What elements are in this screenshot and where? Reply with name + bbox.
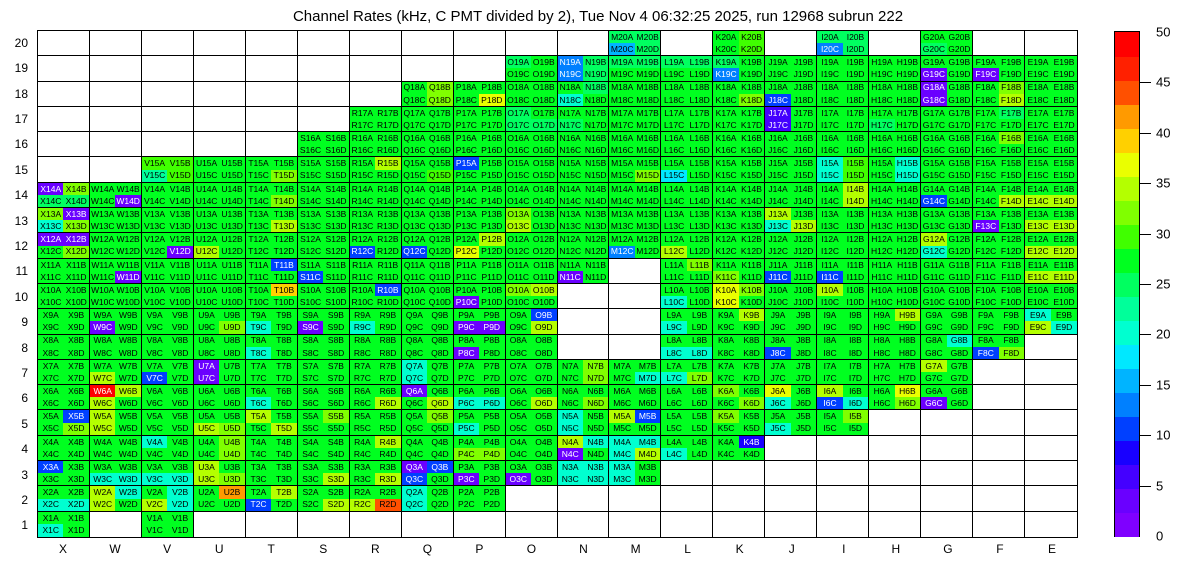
grid-cell: J7AJ7BJ7CJ7D [765, 360, 817, 385]
grid-cell: N13AN13BN13CN13D [558, 208, 610, 233]
grid-cell [298, 512, 350, 537]
channel-cell [895, 423, 920, 435]
channel-cell: R16D [375, 144, 400, 156]
channel-cell: H16A [869, 132, 894, 144]
channel-cell [115, 524, 140, 537]
channel-cell: M5D [635, 423, 660, 435]
channel-cell: G8B [947, 335, 972, 347]
channel-cell: Q17A [402, 107, 427, 119]
channel-cell: L5D [687, 423, 712, 435]
grid-cell: S6AS6BS6CS6D [298, 385, 350, 410]
channel-cell: L13C [661, 220, 686, 232]
grid-cell [246, 56, 298, 81]
channel-cell [90, 119, 115, 131]
channel-cell: R7D [375, 372, 400, 384]
channel-cell: F8D [999, 347, 1024, 359]
channel-cell [246, 82, 271, 94]
channel-cell: O5B [531, 410, 556, 422]
channel-cell [558, 296, 583, 308]
channel-cell [609, 284, 634, 296]
channel-cell [115, 107, 140, 119]
channel-cell: J6C [765, 397, 790, 409]
channel-cell [375, 94, 400, 106]
channel-cell [479, 524, 504, 537]
channel-cell [583, 347, 608, 359]
grid-cell [713, 461, 765, 486]
channel-cell: Q4A [402, 436, 427, 448]
grid-cell: V2AV2BV2CV2D [142, 486, 194, 511]
channel-cell [402, 56, 427, 68]
channel-cell: G18B [947, 82, 972, 94]
channel-cell: X9D [63, 321, 88, 333]
channel-cell [142, 132, 167, 144]
channel-cell: W3B [115, 461, 140, 473]
colorbar-tick-label-40: 40 [1156, 125, 1170, 140]
grid-cell: Q15AQ15BQ15CQ15D [402, 157, 454, 182]
grid-cell: X4AX4BX4CX4D [38, 436, 90, 461]
channel-cell: P5C [454, 423, 479, 435]
channel-cell [921, 423, 946, 435]
channel-cell: S16B [323, 132, 348, 144]
channel-cell: R3D [375, 473, 400, 485]
channel-cell [63, 107, 88, 119]
channel-cell: P8D [479, 347, 504, 359]
row-label-12: 12 [15, 239, 28, 253]
channel-cell: S7B [323, 360, 348, 372]
channel-cell: P4B [479, 436, 504, 448]
channel-cell: J12D [791, 246, 816, 258]
channel-cell: E15D [1051, 170, 1077, 182]
channel-cell: H8C [869, 347, 894, 359]
channel-cell: P13C [454, 220, 479, 232]
grid-cell: I19AI19BI19CI19D [817, 56, 869, 81]
channel-cell [687, 473, 712, 485]
channel-cell: O18C [506, 94, 531, 106]
channel-cell: G19D [947, 68, 972, 80]
channel-cell: M14C [609, 195, 634, 207]
channel-cell [142, 107, 167, 119]
channel-cell: U6C [194, 397, 219, 409]
channel-cell: G15D [947, 170, 972, 182]
channel-cell: F9D [999, 321, 1024, 333]
channel-cell: G19C [921, 68, 946, 80]
channel-cell: J18A [765, 82, 790, 94]
column-label-X: X [59, 542, 67, 556]
channel-cell: V1A [142, 512, 167, 525]
channel-cell: K12B [739, 233, 764, 245]
channel-cell [1051, 486, 1077, 498]
channel-cell: T6C [246, 397, 271, 409]
channel-cell: M5C [609, 423, 634, 435]
channel-cell [531, 31, 556, 43]
channel-cell: U8C [194, 347, 219, 359]
channel-cell [973, 360, 998, 372]
channel-cell: K13C [713, 220, 738, 232]
channel-cell: J7B [791, 360, 816, 372]
channel-cell [973, 423, 998, 435]
channel-cell: R12C [350, 246, 375, 258]
channel-cell: N3A [558, 461, 583, 473]
grid-cell: O10AO10BO10CO10D [506, 284, 558, 309]
channel-cell: K14B [739, 183, 764, 195]
channel-cell: M4C [609, 448, 634, 460]
grid-cell: S15AS15BS15CS15D [298, 157, 350, 182]
channel-cell: Q3B [427, 461, 452, 473]
grid-cell: Q7AQ7BQ7CQ7D [402, 360, 454, 385]
channel-cell [1051, 499, 1077, 511]
channel-cell: I13D [843, 220, 868, 232]
channel-cell: Q13A [402, 208, 427, 220]
channel-cell: N12D [583, 246, 608, 258]
channel-cell [402, 68, 427, 80]
grid-cell: F9AF9BF9CF9D [973, 309, 1025, 334]
channel-cell: E18D [1051, 94, 1077, 106]
channel-cell: H10A [869, 284, 894, 296]
channel-cell: O9B [531, 309, 556, 321]
channel-cell: Q8C [402, 347, 427, 359]
channel-cell: E14B [1051, 183, 1077, 195]
channel-cell: T10A [246, 284, 271, 296]
channel-cell [817, 473, 842, 485]
channel-cell: L9D [687, 321, 712, 333]
grid-cell: K12AK12BK12CK12D [713, 233, 765, 258]
channel-cell: E10C [1025, 296, 1051, 308]
grid-cell: O16AO16BO16CO16D [506, 132, 558, 157]
colorbar-tick-label-5: 5 [1156, 478, 1163, 493]
channel-cell: V6A [142, 385, 167, 397]
channel-cell: Q18D [427, 94, 452, 106]
grid-cell: Q18AQ18BQ18CQ18D [402, 82, 454, 107]
channel-cell: M4A [609, 436, 634, 448]
channel-cell: T15C [246, 170, 271, 182]
channel-cell: E19B [1051, 56, 1077, 68]
channel-cell: I12D [843, 246, 868, 258]
channel-cell: T7A [246, 360, 271, 372]
channel-cell: R13C [350, 220, 375, 232]
channel-cell: W6D [115, 397, 140, 409]
channel-cell: X4D [63, 448, 88, 460]
channel-cell: J19B [791, 56, 816, 68]
channel-cell: L12A [661, 233, 686, 245]
channel-cell: J12A [765, 233, 790, 245]
grid-cell: M13AM13BM13CM13D [609, 208, 661, 233]
channel-cell [999, 397, 1024, 409]
channel-cell [739, 499, 764, 511]
channel-cell: V3C [142, 473, 167, 485]
grid-cell [921, 512, 973, 537]
channel-cell: L4A [661, 436, 686, 448]
channel-cell [219, 68, 244, 80]
channel-cell: S11A [298, 259, 323, 271]
grid-cell [506, 486, 558, 511]
channel-cell: T12A [246, 233, 271, 245]
channel-cell [427, 524, 452, 537]
grid-cell: L18AL18BL18CL18D [661, 82, 713, 107]
channel-cell: W4D [115, 448, 140, 460]
channel-cell [661, 512, 686, 525]
grid-cell [765, 436, 817, 461]
grid-cell: T14AT14BT14CT14D [246, 183, 298, 208]
grid-cell: M7AM7BM7CM7D [609, 360, 661, 385]
channel-cell: E11C [1025, 271, 1051, 283]
channel-cell: X10A [38, 284, 63, 296]
channel-cell [167, 132, 192, 144]
channel-cell: X9C [38, 321, 63, 333]
grid-cell: L7AL7BL7CL7D [661, 360, 713, 385]
channel-cell: L7D [687, 372, 712, 384]
channel-cell: E16B [1051, 132, 1077, 144]
channel-cell: W8D [115, 347, 140, 359]
colorbar-tick [1140, 486, 1151, 487]
channel-cell: O19A [506, 56, 531, 68]
channel-cell [1051, 347, 1077, 359]
channel-cell: J13A [765, 208, 790, 220]
grid-cell: I8AI8BI8CI8D [817, 335, 869, 360]
row-label-4: 4 [21, 442, 28, 456]
grid-cell [194, 31, 246, 56]
channel-cell: J10C [765, 296, 790, 308]
grid-cell: U5AU5BU5CU5D [194, 410, 246, 435]
channel-cell: K15D [739, 170, 764, 182]
grid-cell: F12AF12BF12CF12D [973, 233, 1025, 258]
channel-cell: E13C [1025, 220, 1051, 232]
grid-cell [973, 410, 1025, 435]
channel-cell: H13C [869, 220, 894, 232]
channel-cell: O10A [506, 284, 531, 296]
channel-cell [947, 473, 972, 485]
grid-cell: M5AM5BM5CM5D [609, 410, 661, 435]
channel-cell: V7A [142, 360, 167, 372]
column-label-V: V [163, 542, 171, 556]
grid-cell: M19AM19BM19CM19D [609, 56, 661, 81]
grid-cell: G10AG10BG10CG10D [921, 284, 973, 309]
grid-cell: Q12AQ12BQ12CQ12D [402, 233, 454, 258]
channel-cell: H10B [895, 284, 920, 296]
channel-cell: X4B [63, 436, 88, 448]
channel-cell: X13C [38, 220, 63, 232]
channel-cell [661, 499, 686, 511]
channel-cell: T15A [246, 157, 271, 169]
channel-cell: I19A [817, 56, 842, 68]
row-label-3: 3 [21, 468, 28, 482]
channel-cell: O8A [506, 335, 531, 347]
channel-cell [1051, 423, 1077, 435]
channel-cell: U7B [219, 360, 244, 372]
channel-cell: M3C [609, 473, 634, 485]
channel-cell [1051, 360, 1077, 372]
channel-cell: W11C [90, 271, 115, 283]
channel-cell [791, 31, 816, 43]
channel-cell [63, 94, 88, 106]
channel-cell: T14B [271, 183, 296, 195]
channel-cell [609, 296, 634, 308]
grid-cell: Q8AQ8BQ8CQ8D [402, 335, 454, 360]
channel-cell [609, 524, 634, 537]
grid-cell [298, 107, 350, 132]
grid-cell [38, 31, 90, 56]
channel-cell: M4B [635, 436, 660, 448]
channel-cell: M19D [635, 68, 660, 80]
channel-cell: K12D [739, 246, 764, 258]
channel-cell [609, 335, 634, 347]
grid-cell: F18AF18BF18CF18D [973, 82, 1025, 107]
channel-cell: O13B [531, 208, 556, 220]
channel-cell [142, 94, 167, 106]
channel-cell: U2D [219, 499, 244, 511]
grid-cell: I18AI18BI18CI18D [817, 82, 869, 107]
channel-cell: I20B [843, 31, 868, 43]
channel-cell: J11A [765, 259, 790, 271]
channel-cell: U12C [194, 246, 219, 258]
grid-cell [973, 461, 1025, 486]
channel-cell [506, 524, 531, 537]
channel-cell: U9B [219, 309, 244, 321]
channel-cell [791, 448, 816, 460]
grid-cell: M6AM6BM6CM6D [609, 385, 661, 410]
channel-cell: W8A [90, 335, 115, 347]
grid-cell [973, 486, 1025, 511]
channel-cell: L19C [661, 68, 686, 80]
channel-cell [246, 94, 271, 106]
channel-cell [869, 31, 894, 43]
channel-cell: L15D [687, 170, 712, 182]
channel-cell: L15C [661, 170, 686, 182]
channel-cell: H16B [895, 132, 920, 144]
channel-cell [895, 461, 920, 473]
grid-cell: J13AJ13BJ13CJ13D [765, 208, 817, 233]
channel-cell: O11D [531, 271, 556, 283]
channel-cell: M3D [635, 473, 660, 485]
channel-cell: X2C [38, 499, 63, 511]
channel-cell: I11A [817, 259, 842, 271]
grid-cell: W2AW2BW2CW2D [90, 486, 142, 511]
channel-cell [895, 524, 920, 537]
channel-cell: S7D [323, 372, 348, 384]
channel-cell: R7B [375, 360, 400, 372]
channel-cell: N18A [558, 82, 583, 94]
channel-cell: V10C [142, 296, 167, 308]
channel-cell: W5D [115, 423, 140, 435]
channel-cell: N19C [558, 68, 583, 80]
channel-cell [999, 499, 1024, 511]
grid-cell: W12AW12BW12CW12D [90, 233, 142, 258]
channel-cell [298, 31, 323, 43]
channel-cell: K6A [713, 385, 738, 397]
channel-cell [271, 82, 296, 94]
channel-cell: H18A [869, 82, 894, 94]
channel-cell: G18D [947, 94, 972, 106]
channel-cell: G12D [947, 246, 972, 258]
channel-cell: U5C [194, 423, 219, 435]
channel-cell: W4A [90, 436, 115, 448]
channel-cell [90, 524, 115, 537]
channel-cell: R4A [350, 436, 375, 448]
channel-cell [506, 31, 531, 43]
channel-cell: O17C [506, 119, 531, 131]
channel-cell: J8B [791, 335, 816, 347]
channel-cell [635, 284, 660, 296]
channel-cell [1051, 335, 1077, 347]
grid-cell: S12AS12BS12CS12D [298, 233, 350, 258]
column-label-J: J [789, 542, 795, 556]
channel-cell: L9C [661, 321, 686, 333]
channel-cell: K4A [713, 436, 738, 448]
channel-cell: P7C [454, 372, 479, 384]
channel-cell [38, 94, 63, 106]
channel-cell: P6D [479, 397, 504, 409]
channel-cell: S13C [298, 220, 323, 232]
channel-cell: V3A [142, 461, 167, 473]
channel-cell: K4D [739, 448, 764, 460]
channel-cell [454, 31, 479, 43]
channel-cell [246, 31, 271, 43]
channel-cell: O11B [531, 259, 556, 271]
grid-cell: S16AS16BS16CS16D [298, 132, 350, 157]
channel-cell [194, 107, 219, 119]
channel-cell [1051, 524, 1077, 537]
channel-cell: M18C [609, 94, 634, 106]
channel-cell [1051, 397, 1077, 409]
grid-cell [246, 107, 298, 132]
channel-cell: K6B [739, 385, 764, 397]
channel-cell: J15D [791, 170, 816, 182]
channel-cell: G20B [947, 31, 972, 43]
channel-cell: T12C [246, 246, 271, 258]
channel-cell: R8A [350, 335, 375, 347]
grid-cell: V7AV7BV7CV7D [142, 360, 194, 385]
grid-cell: I5AI5BI5CI5D [817, 410, 869, 435]
grid-cell: H11AH11BH11CH11D [869, 259, 921, 284]
grid-cell: S5AS5BS5CS5D [298, 410, 350, 435]
channel-cell: X14C [38, 195, 63, 207]
channel-cell: F17B [999, 107, 1024, 119]
channel-cell: F19A [973, 56, 998, 68]
channel-cell: G12B [947, 233, 972, 245]
grid-cell [454, 31, 506, 56]
grid-cell: O6AO6BO6CO6D [506, 385, 558, 410]
channel-cell: O6C [506, 397, 531, 409]
channel-cell: L12B [687, 233, 712, 245]
channel-cell: N3D [583, 473, 608, 485]
grid-cell: E15AE15BE15CE15D [1025, 157, 1077, 182]
channel-cell: I6D [843, 397, 868, 409]
channel-cell: R13A [350, 208, 375, 220]
grid-cell: Q2AQ2BQ2CQ2D [402, 486, 454, 511]
channel-cell: F11D [999, 271, 1024, 283]
channel-cell: P18A [454, 82, 479, 94]
channel-cell [271, 56, 296, 68]
channel-cell: S11B [323, 259, 348, 271]
channel-cell: Q7C [402, 372, 427, 384]
grid-cell: G12AG12BG12CG12D [921, 233, 973, 258]
channel-cell: U15A [194, 157, 219, 169]
channel-cell: O13D [531, 220, 556, 232]
channel-cell [843, 499, 868, 511]
channel-cell [194, 132, 219, 144]
channel-cell [999, 360, 1024, 372]
channel-cell: I10D [843, 296, 868, 308]
channel-cell [271, 94, 296, 106]
channel-cell: U6B [219, 385, 244, 397]
grid-cell [921, 461, 973, 486]
column-label-G: G [943, 542, 952, 556]
grid-cell [1025, 360, 1077, 385]
channel-cell: M14D [635, 195, 660, 207]
channel-cell: T11A [246, 259, 271, 271]
channel-cell: R10C [350, 296, 375, 308]
channel-cell [323, 31, 348, 43]
channel-cell [999, 372, 1024, 384]
